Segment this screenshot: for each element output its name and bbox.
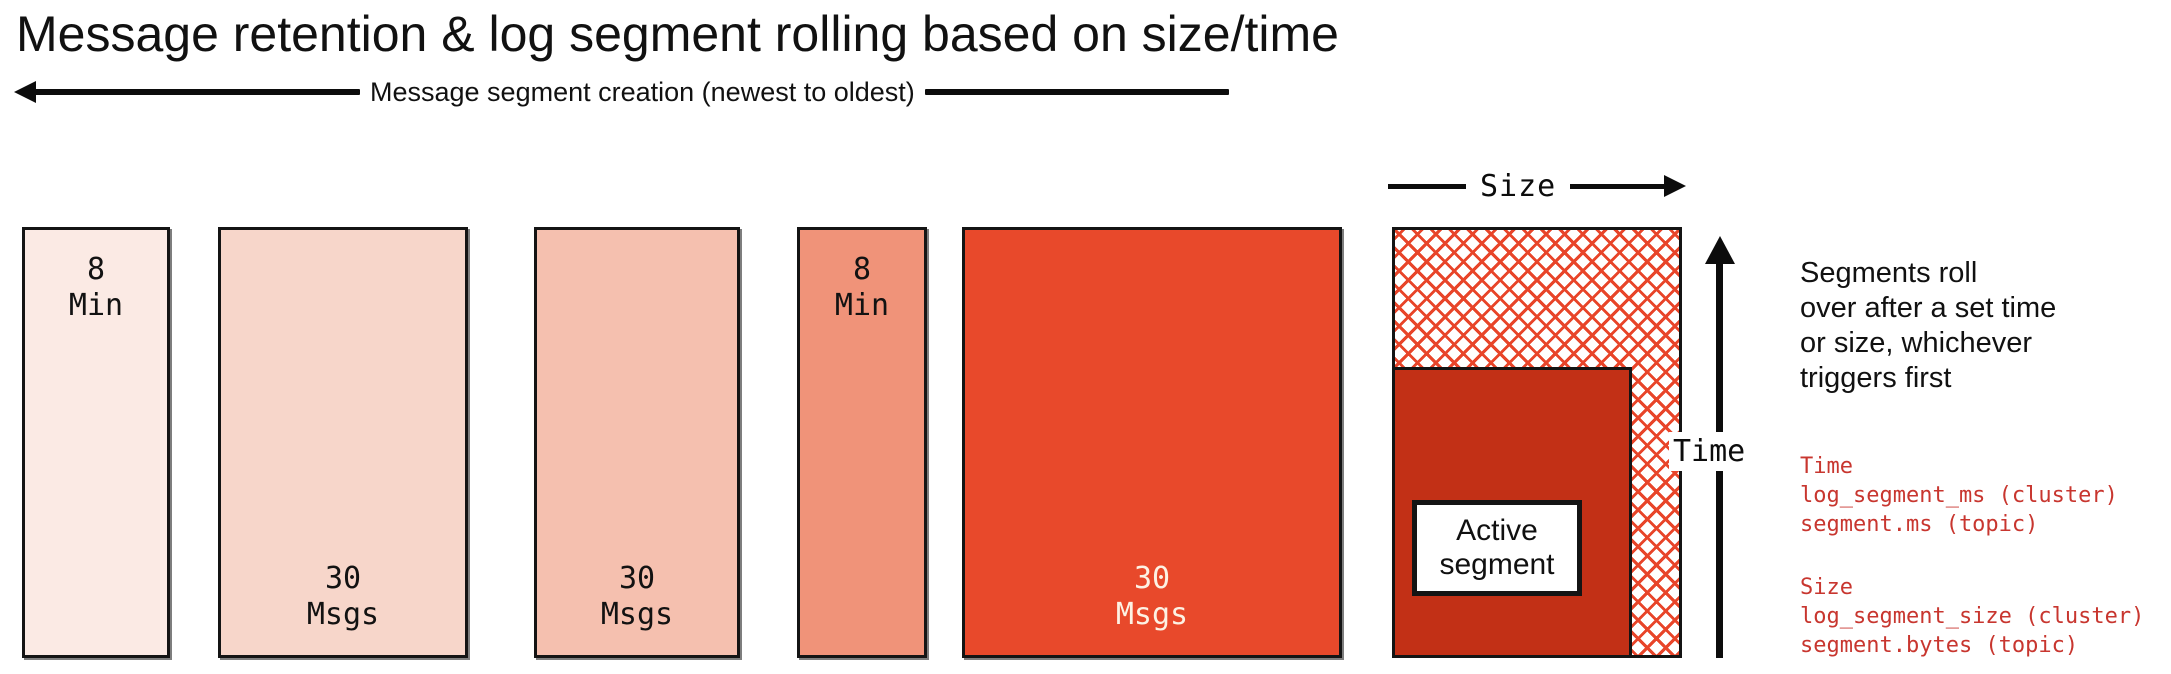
creation-axis-line-right bbox=[925, 89, 1229, 95]
log-segment-bar: 30 Msgs bbox=[218, 227, 468, 658]
creation-axis: Message segment creation (newest to olde… bbox=[14, 72, 1229, 112]
size-axis: Size bbox=[1388, 168, 1686, 204]
segment-bottom-label: 30 Msgs bbox=[537, 561, 737, 633]
active-segment-label: Active segment bbox=[1439, 514, 1554, 582]
segment-top-label: 8 Min bbox=[800, 252, 924, 324]
explanation-note: Segments roll over after a set time or s… bbox=[1800, 256, 2160, 396]
segment-bottom-label: 30 Msgs bbox=[221, 561, 465, 633]
config-size-block: Size log_segment_size (cluster) segment.… bbox=[1800, 573, 2144, 660]
log-segment-bar: 30 Msgs bbox=[534, 227, 740, 658]
creation-axis-line-left bbox=[35, 89, 360, 95]
size-axis-label: Size bbox=[1466, 169, 1570, 204]
segment-bottom-label: 30 Msgs bbox=[965, 561, 1339, 633]
page-title: Message retention & log segment rolling … bbox=[16, 6, 1339, 62]
arrow-left-icon bbox=[14, 81, 36, 103]
creation-axis-label: Message segment creation (newest to olde… bbox=[360, 77, 925, 108]
segment-top-label: 8 Min bbox=[25, 252, 167, 324]
log-segment-bar: 8 Min bbox=[797, 227, 927, 658]
config-time-block: Time log_segment_ms (cluster) segment.ms… bbox=[1800, 452, 2118, 539]
size-axis-line-right bbox=[1570, 184, 1665, 189]
log-segment-bar: 30 Msgs bbox=[962, 227, 1342, 658]
size-axis-line-left bbox=[1388, 184, 1466, 189]
time-axis-label: Time bbox=[1669, 432, 1749, 471]
active-segment-callout: Active segment bbox=[1412, 500, 1582, 596]
log-segment-bar: 8 Min bbox=[22, 227, 170, 658]
arrow-right-icon bbox=[1664, 175, 1686, 197]
